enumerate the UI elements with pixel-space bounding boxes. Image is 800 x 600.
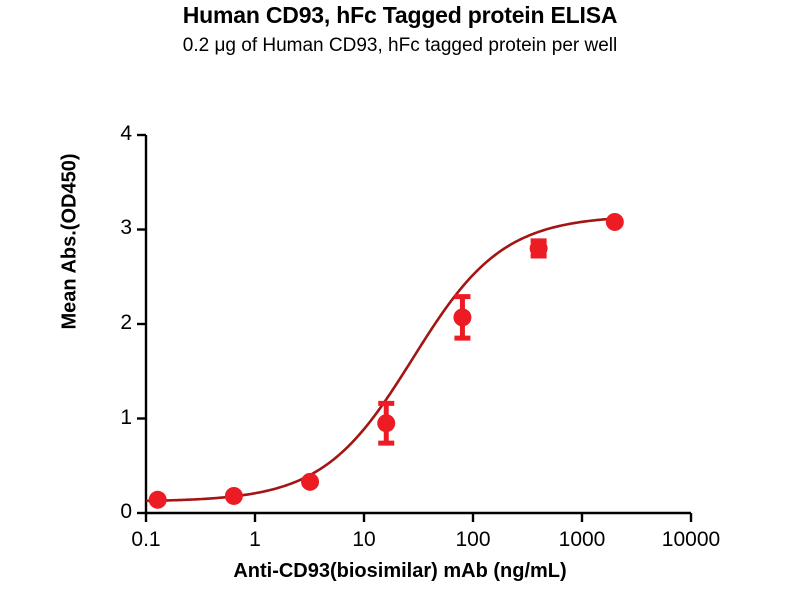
data-point-4 xyxy=(453,308,471,326)
axis-lines xyxy=(146,135,691,513)
plot-canvas xyxy=(0,0,800,600)
x-axis-ticks xyxy=(146,513,691,522)
fit-curve xyxy=(146,218,616,500)
error-bars xyxy=(378,241,546,443)
data-point-6 xyxy=(606,213,624,231)
data-point-1 xyxy=(225,487,243,505)
data-point-3 xyxy=(377,414,395,432)
data-points xyxy=(149,213,624,509)
y-axis-ticks xyxy=(137,135,146,513)
data-point-2 xyxy=(301,473,319,491)
data-point-5 xyxy=(530,239,548,257)
data-point-0 xyxy=(149,491,167,509)
elisa-chart-figure: Human CD93, hFc Tagged protein ELISA 0.2… xyxy=(0,0,800,600)
